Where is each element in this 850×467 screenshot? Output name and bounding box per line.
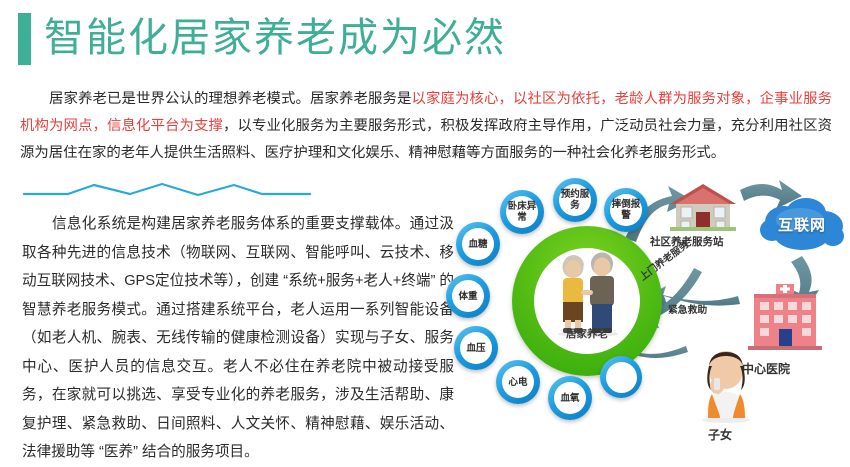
title-accent-bar [18,13,31,65]
satellite-label: 血糖 [462,228,494,260]
satellite-circle-empty[interactable] [600,356,642,398]
satellite-circle-xuetang[interactable]: 血糖 [456,222,500,266]
satellite-label: 预约服务 [559,184,591,216]
intro-segment-1: 居家养老已是世界公认的理想养老模式。居家养老服务是 [49,91,412,107]
satellite-circle-wochuang[interactable]: 卧床异常 [500,190,544,234]
home-elderly-care-diagram: 居家养老 卧床异常 预约服务 摔倒报警 血糖 体重 血压 心电 血氧 社区养老服… [440,176,850,458]
satellite-label: 心电 [502,366,534,398]
satellite-label: 摔倒报警 [610,194,642,226]
intro-paragraph: 居家养老已是世界公认的理想养老模式。居家养老服务是以家庭为核心，以社区为依托，老… [20,86,832,167]
internet-label: 互联网 [758,214,846,235]
satellite-circle-xindian[interactable]: 心电 [496,360,540,404]
page-title: 智能化居家养老成为必然 [44,10,506,66]
children-person-icon [690,344,762,424]
elderly-couple-illustration [548,254,626,336]
satellite-label: 血氧 [554,382,586,414]
satellite-label [606,362,637,393]
satellite-circle-xueyang[interactable]: 血氧 [548,376,592,420]
satellite-circle-tizhong[interactable]: 体重 [446,274,490,318]
satellite-circle-yuyue[interactable]: 预约服务 [553,178,597,222]
children-label: 子女 [708,426,732,443]
satellite-label: 体重 [452,280,484,312]
emergency-arrow-label: 紧急救助 [668,302,707,316]
satellite-circle-xueya[interactable]: 血压 [454,326,498,370]
center-ring-label: 居家养老 [512,326,662,341]
satellite-label: 血压 [460,332,492,364]
satellite-circle-shuaidao[interactable]: 摔倒报警 [604,188,648,232]
community-station-house-icon [666,182,740,232]
satellite-label: 卧床异常 [506,196,538,228]
zigzag-divider-icon [22,181,312,203]
body-paragraph: 信息化系统是构建居家养老服务体系的重要支撑载体。通过汲取各种先进的信息技术（物联… [22,210,454,467]
